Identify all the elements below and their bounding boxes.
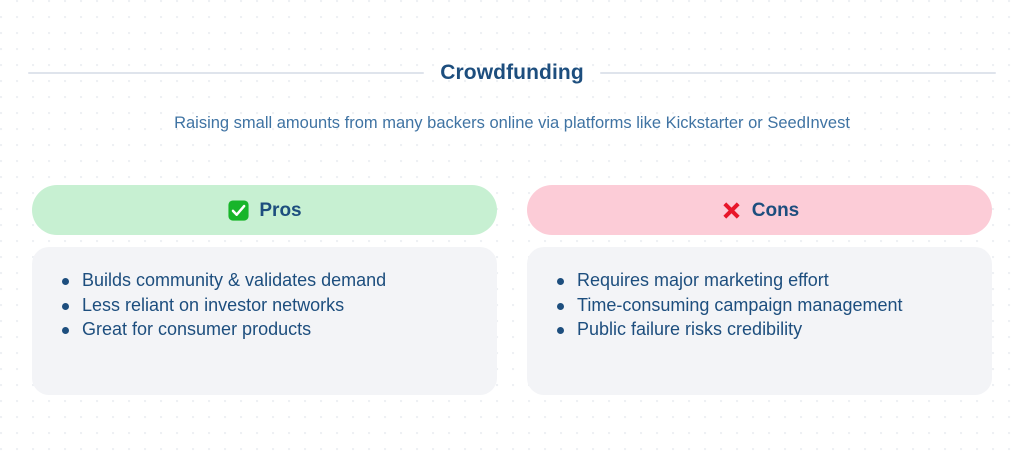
cons-list: Requires major marketing effort Time-con… [547,269,972,342]
pros-label: Pros [259,201,301,220]
title-rule-left [28,72,424,74]
pros-card: Builds community & validates demand Less… [32,247,497,395]
list-item: Time-consuming campaign management [547,294,972,318]
list-item: Public failure risks credibility [547,318,972,342]
cons-card: Requires major marketing effort Time-con… [527,247,992,395]
slide-canvas: Crowdfunding Raising small amounts from … [0,0,1024,464]
list-item: Builds community & validates demand [52,269,477,293]
cons-label: Cons [752,201,800,220]
pros-header-pill: Pros [32,185,497,235]
column-cons: Cons Requires major marketing effort Tim… [527,185,992,395]
title-rule-right [600,72,996,74]
white-heavy-check-mark-icon [227,199,250,222]
slide-subtitle: Raising small amounts from many backers … [40,113,984,134]
cross-mark-icon [720,199,743,222]
cons-header-pill: Cons [527,185,992,235]
page-title: Crowdfunding [440,62,584,83]
list-item: Requires major marketing effort [547,269,972,293]
list-item: Great for consumer products [52,318,477,342]
title-row: Crowdfunding [28,62,996,83]
column-pros: Pros Builds community & validates demand… [32,185,497,395]
pros-list: Builds community & validates demand Less… [52,269,477,342]
list-item: Less reliant on investor networks [52,294,477,318]
pros-cons-columns: Pros Builds community & validates demand… [32,185,992,395]
